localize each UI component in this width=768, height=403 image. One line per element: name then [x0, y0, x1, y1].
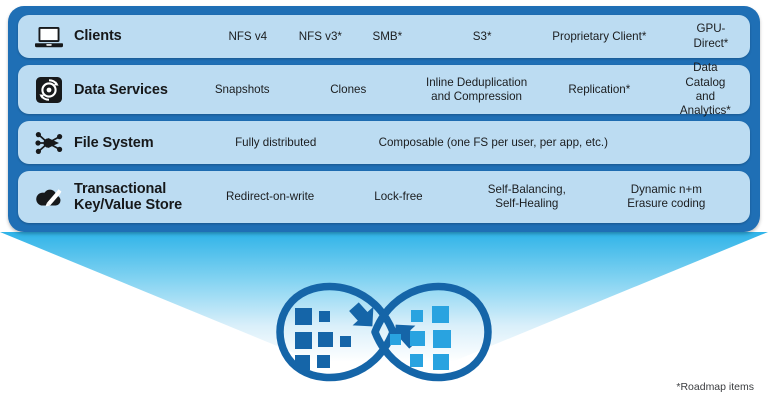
left-grid-squares	[295, 308, 351, 370]
layer-items-data-services: Snapshots Clones Inline Deduplication an…	[192, 65, 750, 114]
cell-replication[interactable]: Replication*	[568, 83, 630, 97]
layer-title-kv-store: Transactional Key/Value Store	[74, 181, 192, 213]
cell-data-catalog[interactable]: Data Catalog and Analytics*	[680, 61, 731, 118]
cell-snapshots[interactable]: Snapshots	[215, 83, 270, 97]
layer-title-clients: Clients	[74, 28, 192, 44]
roadmap-footnote: *Roadmap items	[676, 381, 754, 393]
layer-items-kv-store: Redirect-on-write Lock-free Self-Balanci…	[192, 171, 750, 223]
architecture-stack-container: Clients NFS v4 NFS v3* SMB* S3* Propriet…	[8, 6, 760, 232]
cell-smb[interactable]: SMB*	[372, 30, 402, 44]
cloud-pen-icon	[26, 185, 72, 209]
layer-items-clients: NFS v4 NFS v3* SMB* S3* Proprietary Clie…	[192, 15, 750, 58]
layer-row-kv-store[interactable]: Transactional Key/Value Store Redirect-o…	[18, 171, 750, 223]
layer-title-data-services: Data Services	[74, 82, 192, 98]
layer-title-file-system: File System	[74, 135, 192, 151]
cell-clones[interactable]: Clones	[330, 83, 366, 97]
cell-gpu-direct[interactable]: GPU-Direct*	[691, 22, 730, 50]
cell-nfs-v4[interactable]: NFS v4	[228, 30, 267, 44]
cell-dynamic-erasure[interactable]: Dynamic n+m Erasure coding	[627, 183, 705, 211]
infinity-loop-logo	[253, 268, 515, 396]
layer-row-file-system[interactable]: File System Fully distributed Composable…	[18, 121, 750, 164]
cell-self-balancing[interactable]: Self-Balancing, Self-Healing	[488, 183, 566, 211]
cell-s3[interactable]: S3*	[473, 30, 492, 44]
layer-row-clients[interactable]: Clients NFS v4 NFS v3* SMB* S3* Propriet…	[18, 15, 750, 58]
cell-lock-free[interactable]: Lock-free	[374, 190, 422, 204]
cell-composable[interactable]: Composable (one FS per user, per app, et…	[379, 136, 608, 150]
network-nodes-icon	[26, 130, 72, 156]
cell-redirect-on-write[interactable]: Redirect-on-write	[226, 190, 314, 204]
layer-items-file-system: Fully distributed Composable (one FS per…	[192, 121, 750, 164]
laptop-icon	[26, 26, 72, 48]
cell-inline-dedup[interactable]: Inline Deduplication and Compression	[426, 76, 527, 104]
cell-fully-distributed[interactable]: Fully distributed	[235, 136, 316, 150]
cell-proprietary-client[interactable]: Proprietary Client*	[552, 30, 646, 44]
layer-row-data-services[interactable]: Data Services Snapshots Clones Inline De…	[18, 65, 750, 114]
data-services-icon	[26, 77, 72, 103]
cell-nfs-v3[interactable]: NFS v3*	[299, 30, 342, 44]
